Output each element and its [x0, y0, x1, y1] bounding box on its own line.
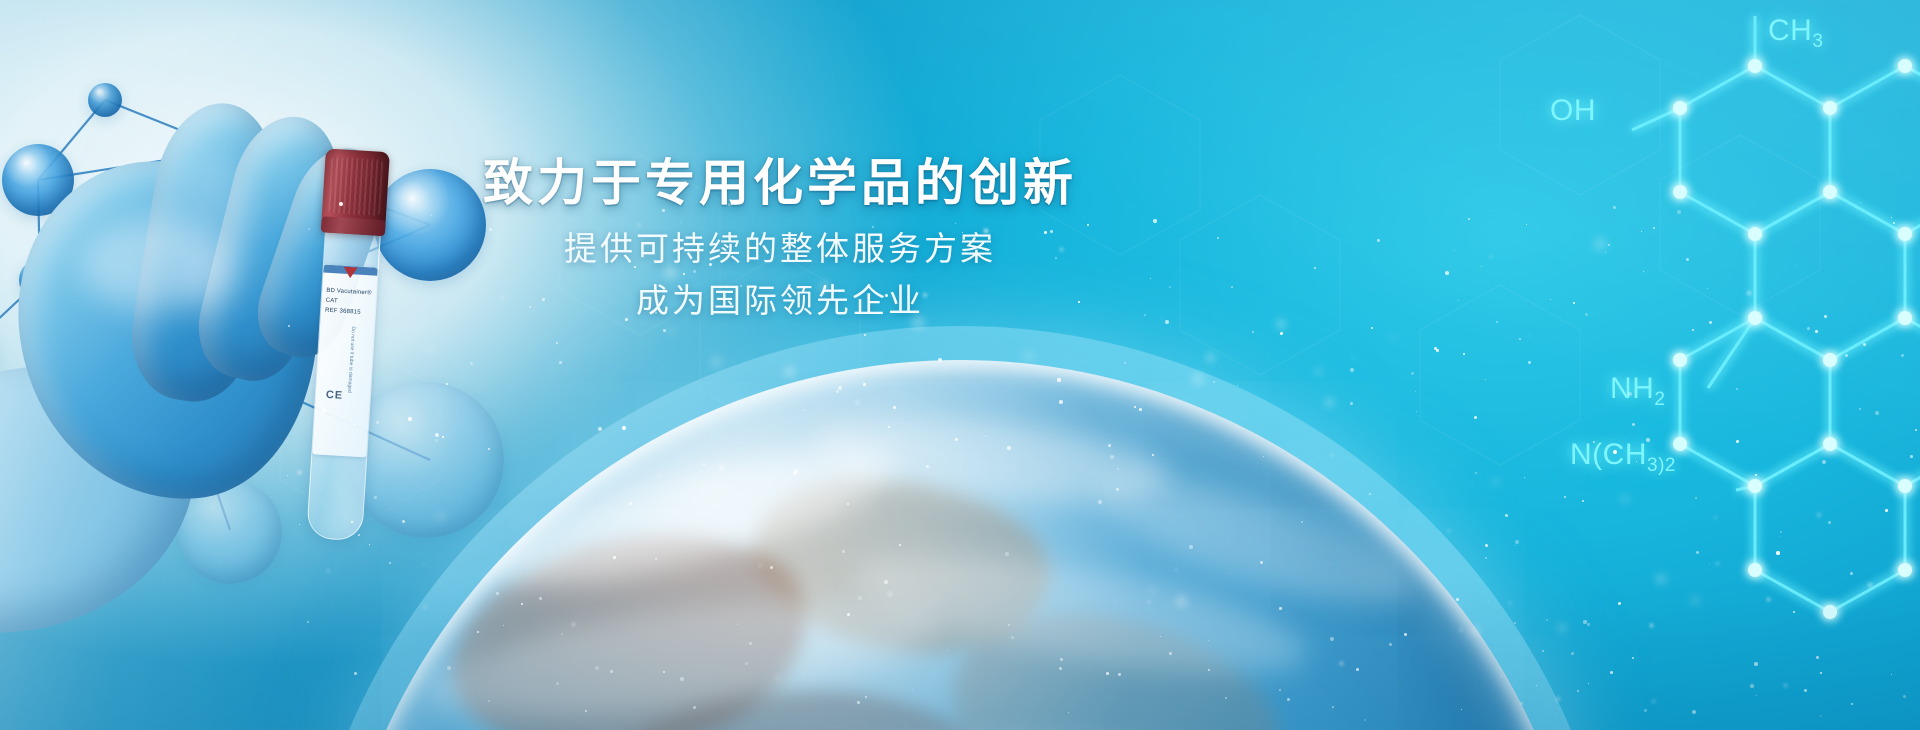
hero-banner: BD Vacutainer® CAT REF 368815 CE Do not …	[0, 0, 1920, 730]
chem-label-nh2: NH2	[1610, 372, 1665, 411]
ce-mark-icon: CE	[326, 389, 344, 402]
chem-label-oh-text: OH	[1550, 94, 1596, 127]
subtitle-line-1: 提供可持续的整体服务方案	[0, 224, 1560, 274]
chem-label-nh2-text: NH	[1610, 372, 1654, 405]
tube-side-text: Do not use if tube is damaged	[346, 326, 356, 393]
page-title: 致力于专用化学品的创新	[0, 152, 1560, 214]
chem-label-nch3-lower: N(CH3)2	[1570, 438, 1676, 477]
subtitle-line-2: 成为国际领先企业	[0, 276, 1560, 326]
chem-label-ch3-sub: 3	[1812, 31, 1823, 52]
gloved-hand-holding-tube: BD Vacutainer® CAT REF 368815 CE Do not …	[0, 40, 480, 730]
banner-copy: 致力于专用化学品的创新 提供可持续的整体服务方案 成为国际领先企业	[0, 152, 1560, 326]
chem-label-ch3-text: CH	[1768, 14, 1812, 47]
chem-label-oh: OH	[1550, 94, 1596, 128]
chem-label-nh2-sub: 2	[1654, 389, 1665, 410]
chem-label-nch3-lower-text: N(CH	[1570, 438, 1647, 471]
chem-label-ch3: CH3	[1768, 14, 1823, 53]
chem-label-nch3-lower-sub: 3)2	[1647, 455, 1676, 476]
